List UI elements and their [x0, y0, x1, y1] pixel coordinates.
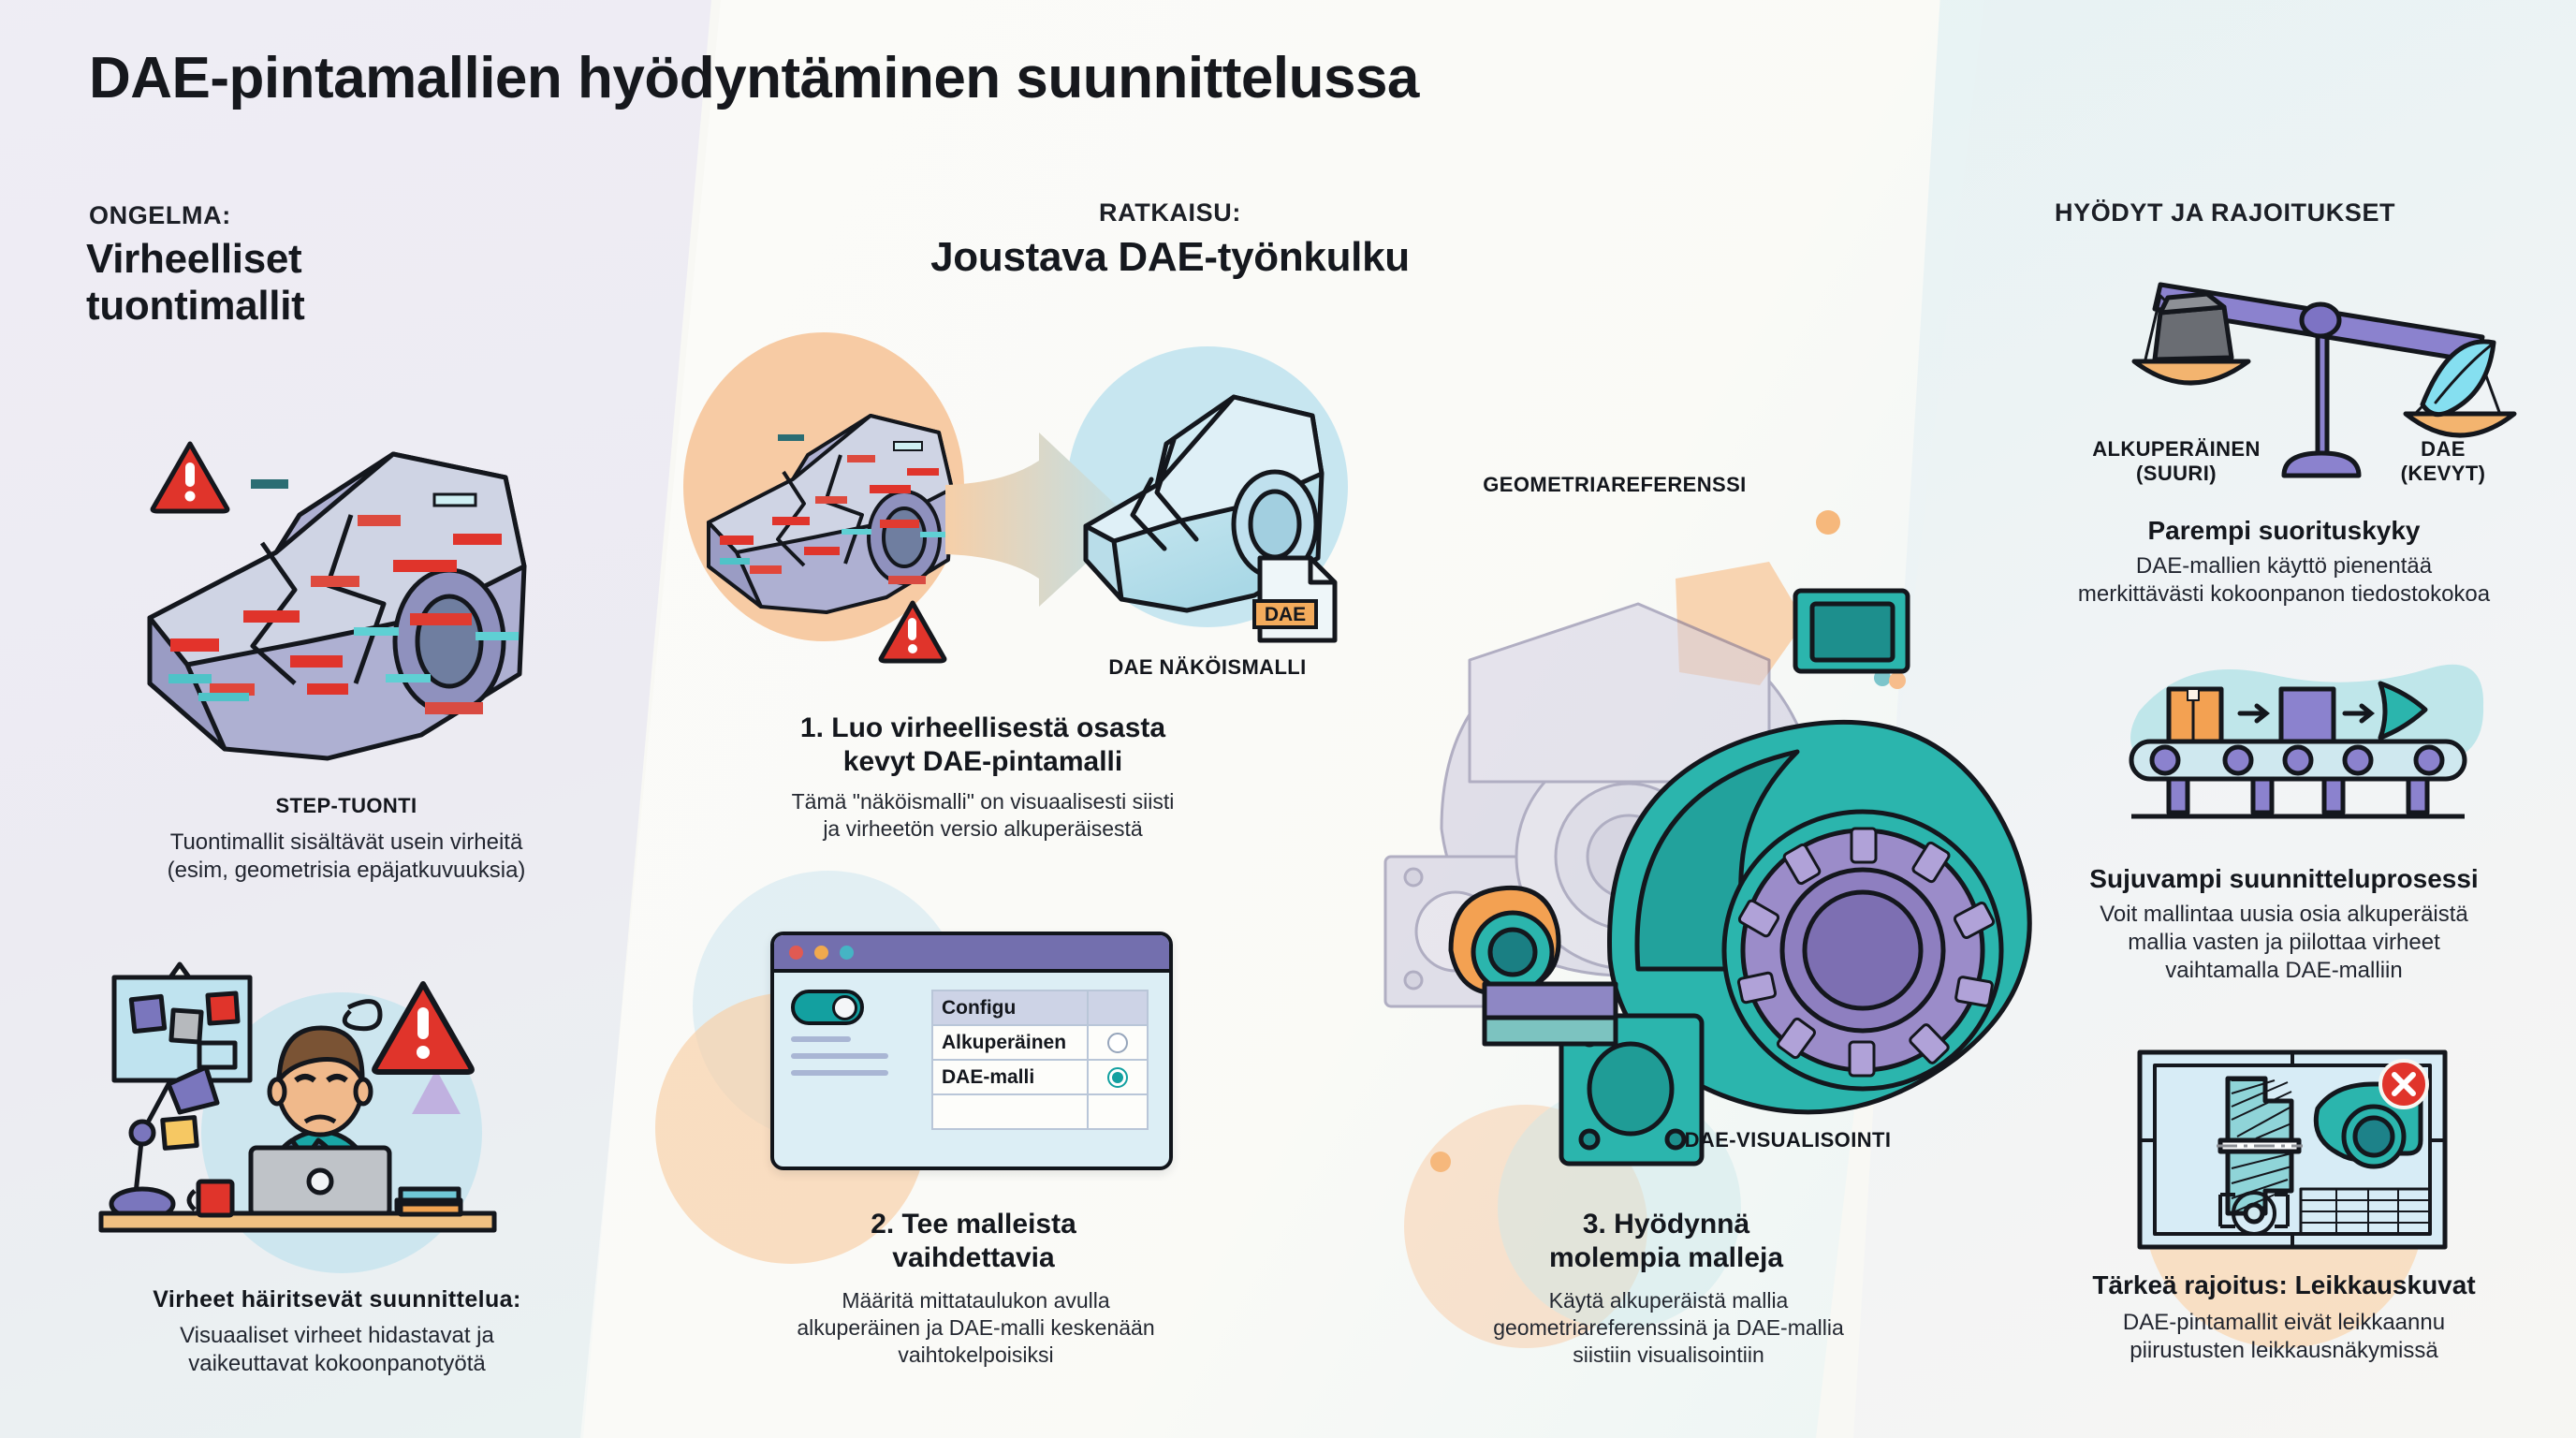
benefits-kicker: HYÖDYT JA RAJOITUKSET: [2055, 198, 2395, 227]
radio-dae-selected[interactable]: [1107, 1067, 1128, 1088]
radio-cell-dae[interactable]: [1088, 1060, 1148, 1094]
confetti-dot-orange-1: [1816, 510, 1840, 535]
infographic-root: DAE-pintamallien hyödyntäminen suunnitte…: [0, 0, 2576, 1438]
toggle-knob: [832, 995, 857, 1020]
scale-label-dae: DAE (KEVYT): [2359, 437, 2527, 487]
table-row-empty: [932, 1094, 1148, 1129]
traffic-light-blue[interactable]: [840, 946, 854, 960]
table-row-dae: DAE-malli: [932, 1060, 1148, 1094]
radio-cell-original[interactable]: [1088, 1025, 1148, 1060]
dae-visualization-label: DAE-VISUALISOINTI: [1591, 1128, 1984, 1152]
design-disruption-body: Visuaaliset virheet hidastavat ja vaikeu…: [19, 1322, 655, 1378]
dae-file-badge-text: DAE: [1265, 604, 1306, 625]
geometry-reference-label: GEOMETRIAREFERENSSI: [1395, 473, 1835, 497]
not-allowed-badge-icon: [2380, 1061, 2427, 1108]
solution-title: Joustava DAE-työnkulku: [824, 234, 1516, 281]
skeleton-line-1: [791, 1036, 851, 1042]
radio-original[interactable]: [1107, 1033, 1128, 1053]
traffic-light-yellow[interactable]: [814, 946, 828, 960]
benefit1-head: Parempi suorituskyky: [2022, 515, 2546, 547]
dae-mockup-label: DAE NÄKÖISMALLI: [1039, 655, 1376, 680]
scale-label-original: ALKUPERÄINEN (SUURI): [2073, 437, 2279, 487]
warning-triangle-icon-2: [371, 979, 476, 1075]
radio-cell-empty[interactable]: [1088, 1094, 1148, 1129]
table-header-row: Configu: [932, 990, 1148, 1025]
drawing-section-icon: [2134, 1047, 2452, 1255]
design-disruption-label: Virheet häiritsevät suunnittelua:: [9, 1286, 665, 1313]
step2-head: 2. Tee malleista vaihdettavia: [749, 1208, 1198, 1275]
row-label-original: Alkuperäinen: [932, 1025, 1088, 1060]
conveyor-belt-icon: [2111, 655, 2485, 824]
benefit2-head: Sujuvampi suunnitteluprosessi: [2022, 863, 2546, 895]
step-import-body: Tuontimallit sisältävät usein virheitä (…: [28, 829, 665, 885]
traffic-light-red[interactable]: [789, 946, 803, 960]
benefit3-body: DAE-pintamallit eivät leikkaannu piirust…: [2003, 1309, 2565, 1365]
benefit3-head: Tärkeä rajoitus: Leikkauskuvat: [2003, 1269, 2565, 1301]
skeleton-line-2: [791, 1053, 888, 1059]
row-label-dae: DAE-malli: [932, 1060, 1088, 1094]
gearbox-dual-model-illustration: [1329, 548, 2041, 1166]
page-title: DAE-pintamallien hyödyntäminen suunnitte…: [89, 45, 1419, 111]
table-header-select: [1088, 990, 1148, 1025]
warning-triangle-icon: [150, 440, 230, 513]
benefit1-body: DAE-mallien käyttö pienentää merkittäväs…: [2003, 552, 2565, 609]
warning-triangle-icon-3: [878, 599, 947, 663]
step3-head: 3. Hyödynnä molempia malleja: [1442, 1208, 1891, 1275]
step1-body: Tämä "näköismalli" on visuaalisesti siis…: [711, 788, 1254, 843]
skeleton-line-3: [791, 1070, 888, 1076]
window-body: Configu Alkuperäinen DAE-malli: [774, 973, 1169, 1139]
step3-body: Käytä alkuperäistä mallia geometriarefer…: [1413, 1287, 1924, 1369]
row-label-empty: [932, 1094, 1088, 1129]
step1-head: 1. Luo virheellisestä osasta kevyt DAE-p…: [721, 712, 1245, 779]
table-row-original: Alkuperäinen: [932, 1025, 1148, 1060]
benefit2-body: Voit mallintaa uusia osia alkuperäistä m…: [2003, 901, 2565, 985]
config-toggle[interactable]: [791, 990, 864, 1025]
dae-file-badge-icon: DAE: [1254, 552, 1340, 646]
table-header-config: Configu: [932, 990, 1088, 1025]
window-titlebar[interactable]: [774, 935, 1169, 973]
step-import-label: STEP-TUONTI: [37, 794, 655, 818]
decorative-triangle-purple: [412, 1069, 461, 1114]
solution-kicker: RATKAISU:: [964, 198, 1376, 227]
config-window[interactable]: Configu Alkuperäinen DAE-malli: [770, 932, 1173, 1170]
step2-body: Määritä mittataulukon avulla alkuperäine…: [721, 1287, 1231, 1369]
problem-title: Virheelliset tuontimallit: [86, 236, 304, 329]
problem-kicker: ONGELMA:: [89, 201, 231, 230]
configuration-table[interactable]: Configu Alkuperäinen DAE-malli: [931, 990, 1149, 1130]
